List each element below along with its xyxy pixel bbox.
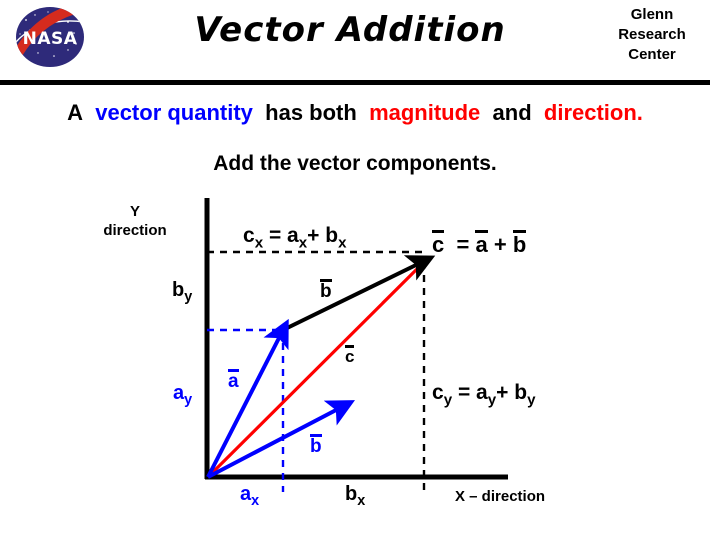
label-vector-a-text: a (228, 369, 239, 393)
eq-vec-plus: + (494, 232, 507, 257)
equation-cx: cx = ax+ bx (243, 224, 346, 251)
label-ax-text: a (240, 483, 251, 505)
label-ax-sub: x (251, 493, 259, 509)
label-vector-c-text: c (345, 345, 354, 367)
eq-vec-a: a (475, 230, 487, 258)
equation-vector-sum: c = a + b (432, 230, 526, 258)
eq-cy-c-sub: y (444, 391, 452, 408)
label-vector-b-upper: b (320, 279, 332, 303)
label-by-text: b (172, 279, 184, 301)
eq-cx-plus: + (307, 224, 319, 247)
label-by-sub: y (184, 289, 192, 305)
eq-cx-b: b (325, 224, 338, 247)
label-vector-b-lower: b (310, 434, 322, 458)
label-bx-text: b (345, 483, 357, 505)
equation-cy: cy = ay+ by (432, 381, 535, 408)
label-bx: bx (345, 483, 365, 509)
eq-cy-equals: = (458, 381, 470, 404)
y-axis-label: Y direction (95, 202, 175, 240)
eq-cx-c: c (243, 224, 255, 247)
label-ay-text: a (173, 382, 184, 404)
label-vector-b-lower-text: b (310, 434, 322, 458)
eq-cx-a: a (287, 224, 299, 247)
label-by: by (172, 279, 192, 305)
eq-cy-c: c (432, 381, 444, 404)
eq-cy-b: b (514, 381, 527, 404)
y-axis-label-line2: direction (95, 221, 175, 240)
label-vector-c: c (345, 345, 354, 367)
eq-cx-equals: = (269, 224, 281, 247)
eq-cy-plus: + (496, 381, 508, 404)
vector-diagram (0, 0, 710, 533)
eq-cy-a-sub: y (488, 391, 496, 408)
label-vector-b-upper-text: b (320, 279, 332, 303)
label-bx-sub: x (357, 493, 365, 509)
eq-vec-equals: = (456, 232, 469, 257)
eq-cx-a-sub: x (299, 234, 307, 251)
label-ax: ax (240, 483, 259, 509)
eq-vec-c: c (432, 230, 444, 258)
x-axis-label: X – direction (455, 488, 545, 505)
label-ay: ay (173, 382, 192, 408)
y-axis-label-line1: Y (95, 202, 175, 221)
label-vector-a: a (228, 369, 239, 393)
label-ay-sub: y (184, 392, 192, 408)
eq-vec-b: b (513, 230, 526, 258)
eq-cx-b-sub: x (338, 234, 346, 251)
eq-cy-b-sub: y (527, 391, 535, 408)
vector-b-translated-arrow (283, 264, 418, 330)
eq-cx-c-sub: x (255, 234, 263, 251)
eq-cy-a: a (476, 381, 488, 404)
slide-root: NASA Vector Addition Glenn Research Cent… (0, 0, 710, 533)
vector-a-arrow (208, 336, 280, 477)
